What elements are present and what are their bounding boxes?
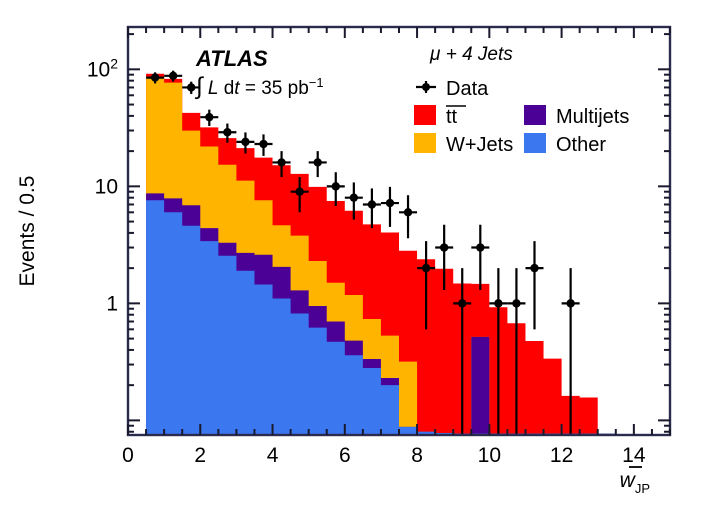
data-marker — [223, 128, 231, 136]
x-tick-label: 10 — [478, 444, 501, 467]
legend-entry-data[interactable]: Data — [416, 78, 489, 100]
legend-entry-wjets[interactable]: W+Jets — [414, 133, 513, 156]
data-point — [200, 110, 218, 126]
y-tick-label-10: 10 — [95, 175, 118, 198]
x-tick-label: 2 — [194, 444, 206, 467]
legend-swatch-other — [524, 133, 546, 153]
x-axis-title: wJP — [620, 469, 650, 496]
luminosity-label: ∫ L dt = 35 pb−1 — [194, 73, 324, 100]
data-marker — [314, 158, 322, 166]
data-point — [309, 151, 327, 177]
legend-channel-label: μ + 4 Jets — [429, 44, 513, 65]
figure-root: 02468101214110102Events / 0.5wJPATLAS∫ L… — [0, 0, 706, 507]
x-tick-label: 12 — [550, 444, 573, 467]
data-point — [327, 172, 345, 206]
data-marker — [566, 299, 574, 307]
legend-swatch-wjets — [414, 133, 436, 153]
legend-entry-multijets[interactable]: Multijets — [524, 105, 629, 128]
legend-data-marker — [422, 83, 430, 91]
histogram-stack — [146, 74, 616, 435]
legend-label-data: Data — [446, 78, 489, 100]
x-tick-label: 14 — [622, 444, 646, 467]
data-marker — [259, 140, 267, 148]
x-tick-label: 8 — [411, 444, 423, 467]
data-point — [363, 188, 381, 228]
data-marker — [476, 243, 484, 251]
legend-swatch-multijets — [524, 105, 546, 125]
x-tick-label: 4 — [267, 444, 279, 467]
legend: μ + 4 JetsDatattMultijetsW+JetsOther — [414, 44, 629, 156]
data-marker — [530, 264, 538, 272]
data-marker — [458, 299, 466, 307]
legend-entry-other[interactable]: Other — [524, 133, 606, 156]
data-marker — [350, 193, 358, 201]
data-marker — [440, 243, 448, 251]
y-tick-label-1: 1 — [106, 292, 118, 315]
legend-label-multijets: Multijets — [556, 106, 629, 128]
data-marker — [187, 83, 195, 91]
legend-entry-ttbar[interactable]: tt — [414, 105, 466, 128]
legend-swatch-ttbar — [414, 105, 436, 125]
data-point — [526, 241, 544, 329]
y-tick-label-100: 102 — [87, 55, 118, 81]
data-marker — [422, 264, 430, 272]
y-axis-title: Events / 0.5 — [16, 176, 39, 287]
legend-label-wjets: W+Jets — [446, 134, 513, 156]
data-point — [471, 225, 489, 290]
data-marker — [512, 299, 520, 307]
legend-label-other: Other — [556, 134, 606, 156]
data-marker — [151, 73, 159, 81]
data-marker — [241, 138, 249, 146]
x-tick-label: 6 — [339, 444, 351, 467]
data-marker — [295, 188, 303, 196]
data-point — [399, 195, 417, 238]
data-marker — [205, 113, 213, 121]
x-tick-label: 0 — [122, 444, 134, 467]
data-marker — [332, 182, 340, 190]
data-marker — [386, 199, 394, 207]
data-marker — [368, 200, 376, 208]
data-marker — [404, 208, 412, 216]
data-marker — [494, 299, 502, 307]
physics-histogram-plot: 02468101214110102Events / 0.5wJPATLAS∫ L… — [0, 0, 706, 507]
data-marker — [277, 158, 285, 166]
atlas-label: ATLAS — [195, 46, 268, 71]
data-point — [255, 134, 273, 156]
legend-label-ttbar: tt — [446, 106, 458, 128]
data-point — [381, 187, 399, 227]
data-marker — [169, 72, 177, 80]
